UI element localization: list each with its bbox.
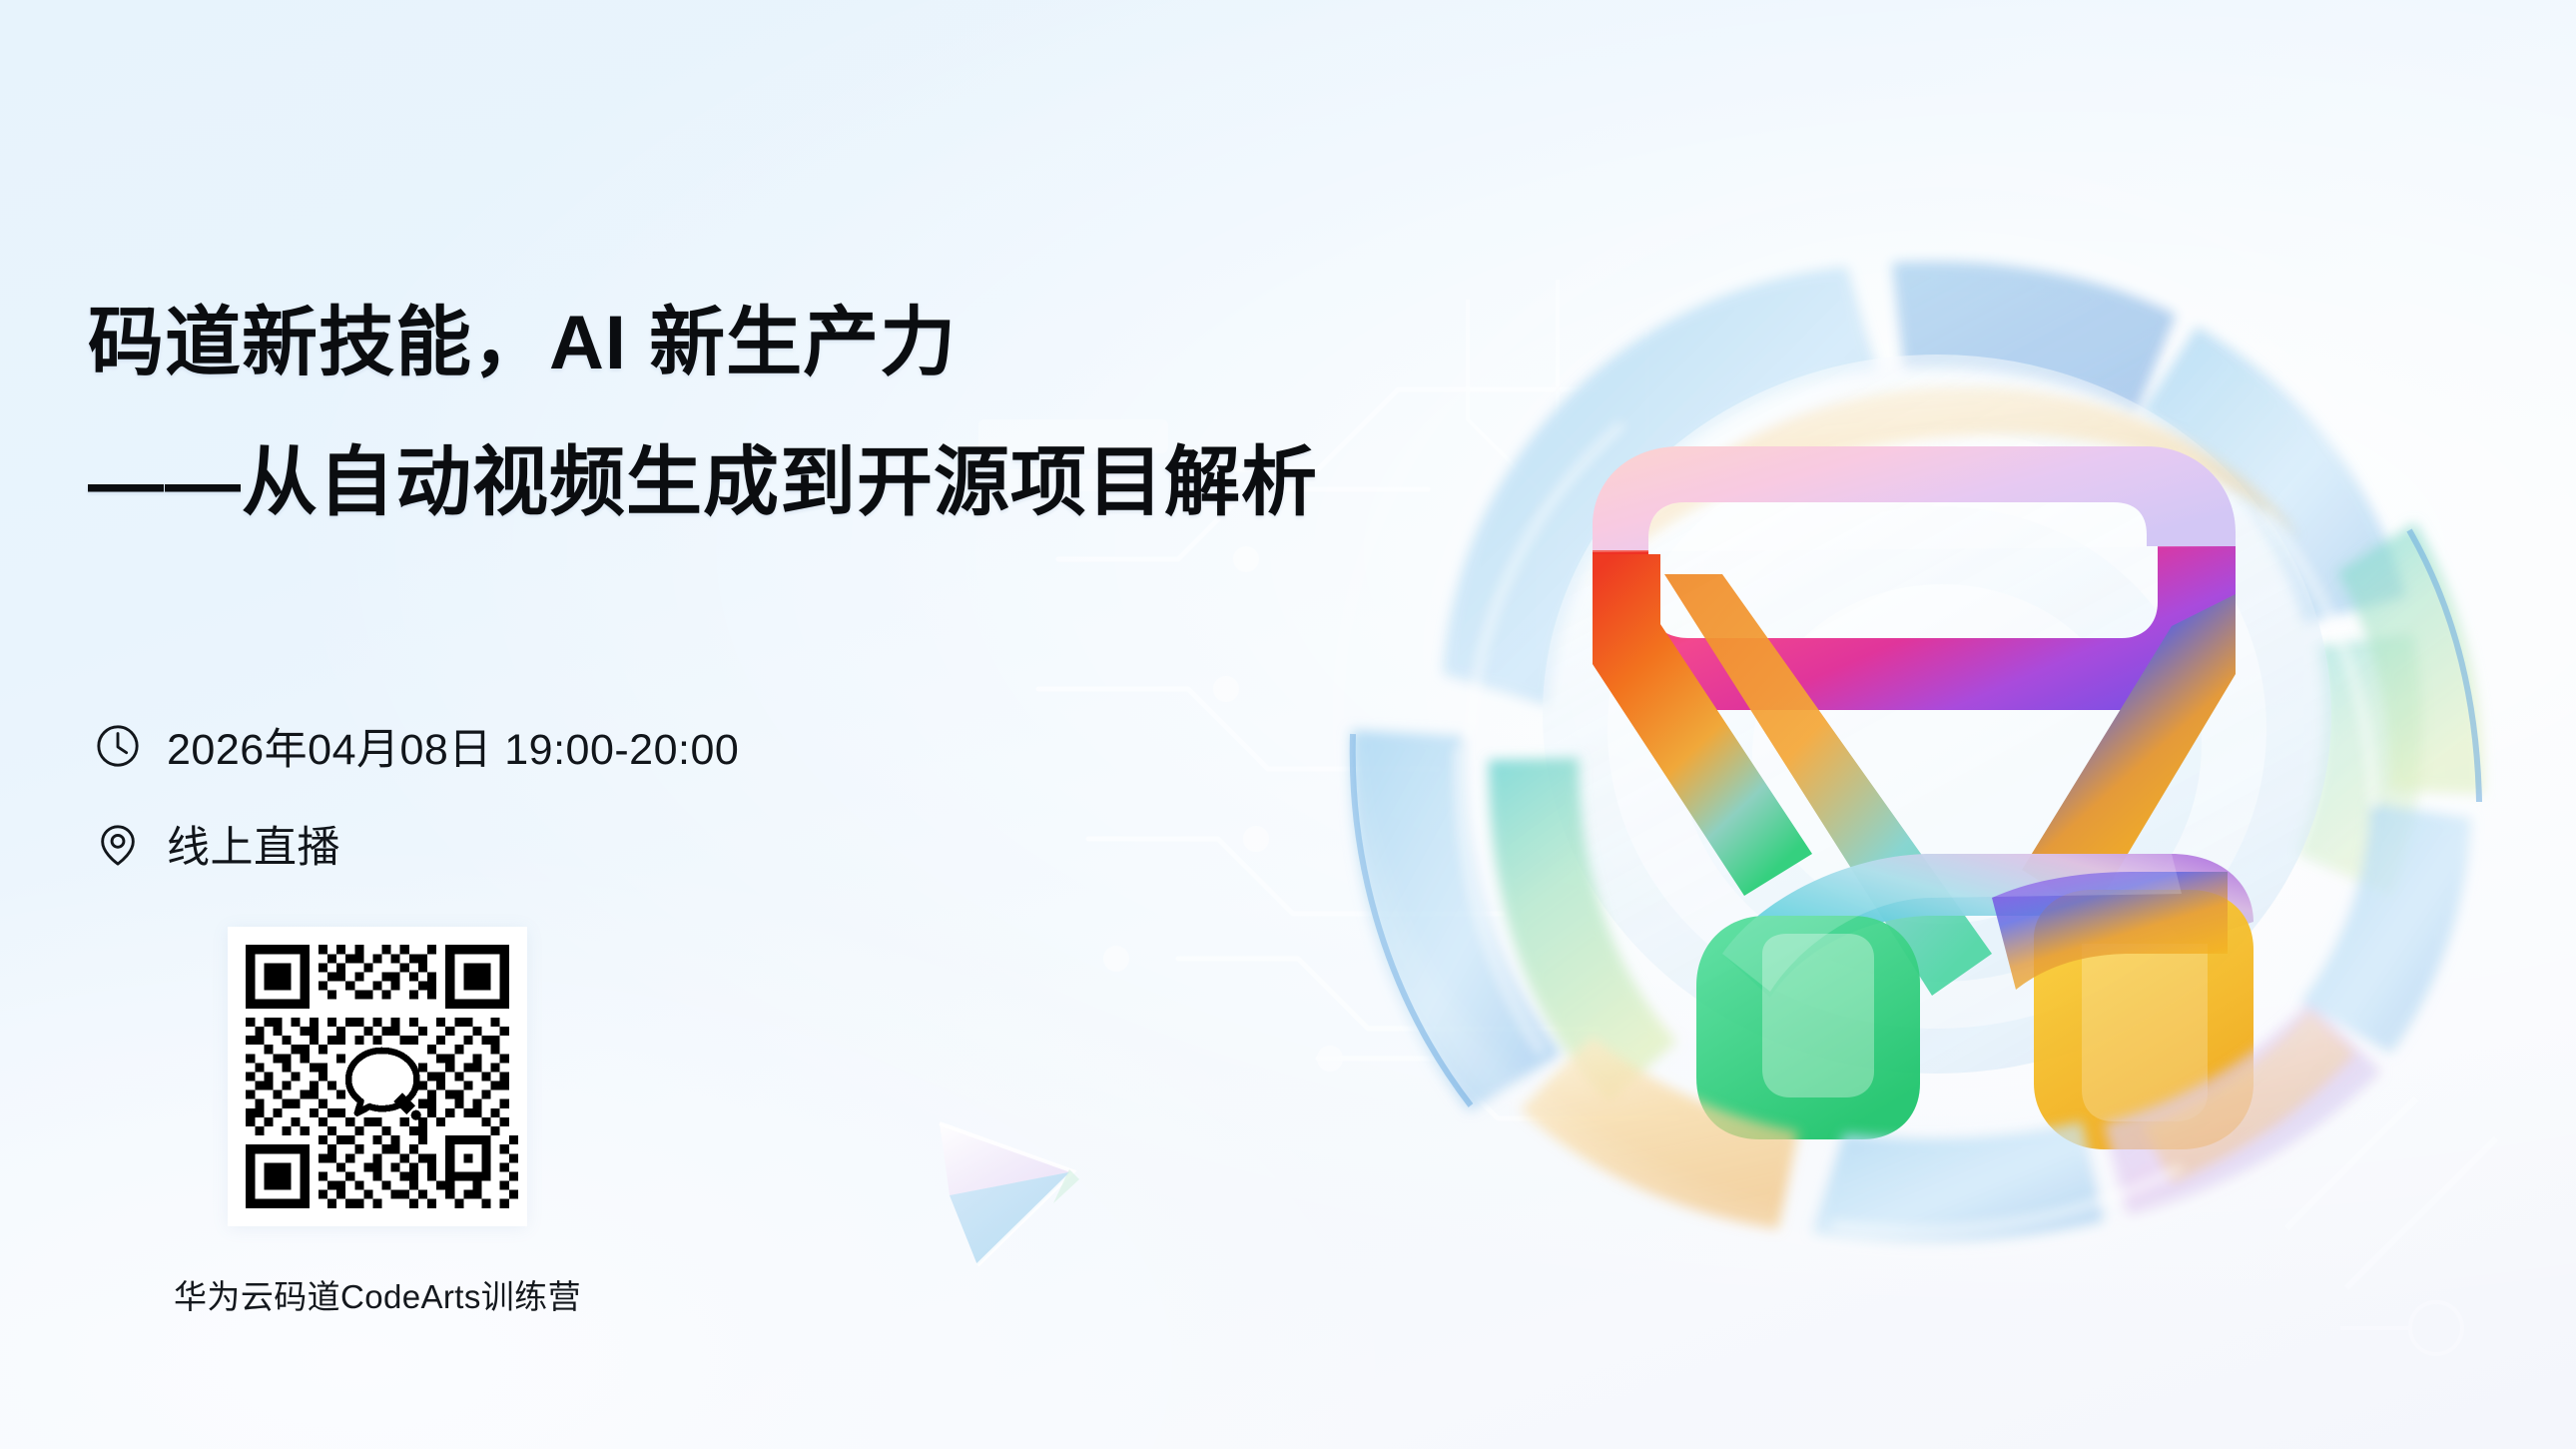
page-title-line-1: 码道新技能，AI 新生产力: [88, 296, 1318, 391]
clock-icon: [95, 723, 141, 769]
prism-decoration: [904, 1084, 1163, 1303]
event-meta: 2026年04月08日 19:00-20:00 线上直播: [95, 715, 739, 875]
qr-code[interactable]: [228, 927, 527, 1226]
event-banner: 码道新技能，AI 新生产力 ——从自动视频生成到开源项目解析 2026年04月0…: [0, 0, 2576, 1449]
event-location-row: 线上直播: [95, 813, 739, 875]
event-datetime-text: 2026年04月08日 19:00-20:00: [167, 715, 739, 777]
hero-3d-artwork: [1293, 155, 2576, 1303]
event-datetime-row: 2026年04月08日 19:00-20:00: [95, 715, 739, 777]
event-location-text: 线上直播: [167, 813, 340, 875]
title-block: 码道新技能，AI 新生产力 ——从自动视频生成到开源项目解析: [88, 296, 1318, 531]
page-title-line-2: ——从自动视频生成到开源项目解析: [88, 435, 1318, 531]
qr-caption: 华为云码道CodeArts训练营: [148, 1270, 607, 1318]
location-pin-icon: [95, 821, 141, 867]
